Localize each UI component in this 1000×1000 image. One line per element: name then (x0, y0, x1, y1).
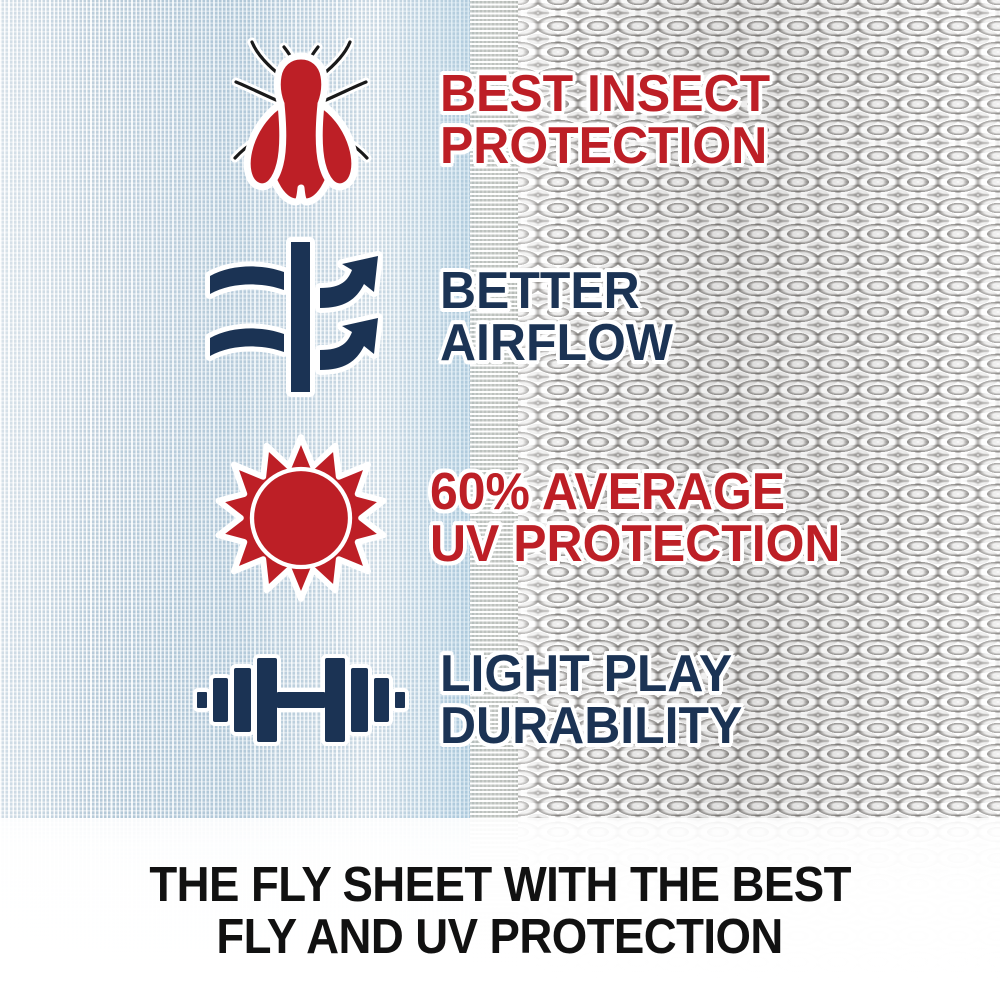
feature-list: BEST INSECT PROTECTION (0, 0, 1000, 818)
airflow-icon (202, 242, 400, 392)
feature-row-uv-protection: 60% AVERAGE UV PROTECTION (196, 432, 858, 604)
feature-label-line1: BETTER (440, 265, 673, 317)
feature-icon-slot (196, 242, 406, 392)
feature-label-durability: LIGHT PLAY DURABILITY (440, 648, 742, 752)
feature-label-line2: AIRFLOW (440, 317, 673, 369)
feature-label-line2: PROTECTION (440, 120, 770, 172)
feature-icon-slot (196, 432, 406, 604)
fly-icon (226, 30, 376, 210)
feature-row-durability: LIGHT PLAY DURABILITY (196, 648, 755, 752)
feature-row-insect-protection: BEST INSECT PROTECTION (196, 30, 784, 210)
banner-headline-line2: FLY AND UV PROTECTION (217, 912, 783, 964)
feature-label-line2: DURABILITY (440, 700, 742, 752)
feature-icon-slot (196, 30, 406, 210)
feature-icon-slot (196, 654, 406, 746)
feature-label-line1: BEST INSECT (440, 68, 770, 120)
banner-headline-line1: THE FLY SHEET WITH THE BEST (149, 860, 850, 912)
sun-icon (215, 432, 387, 604)
feature-label-insect-protection: BEST INSECT PROTECTION (440, 68, 770, 172)
feature-label-better-airflow: BETTER AIRFLOW (440, 265, 673, 369)
feature-label-line1: LIGHT PLAY (440, 648, 742, 700)
feature-label-line1: 60% AVERAGE (430, 466, 840, 518)
dumbbell-icon (193, 654, 409, 746)
feature-row-better-airflow: BETTER AIRFLOW (196, 242, 683, 392)
feature-label-line2: UV PROTECTION (430, 518, 840, 570)
feature-label-uv-protection: 60% AVERAGE UV PROTECTION (430, 466, 840, 570)
product-infographic: BEST INSECT PROTECTION (0, 0, 1000, 1000)
bottom-banner: THE FLY SHEET WITH THE BEST FLY AND UV P… (0, 818, 1000, 1000)
